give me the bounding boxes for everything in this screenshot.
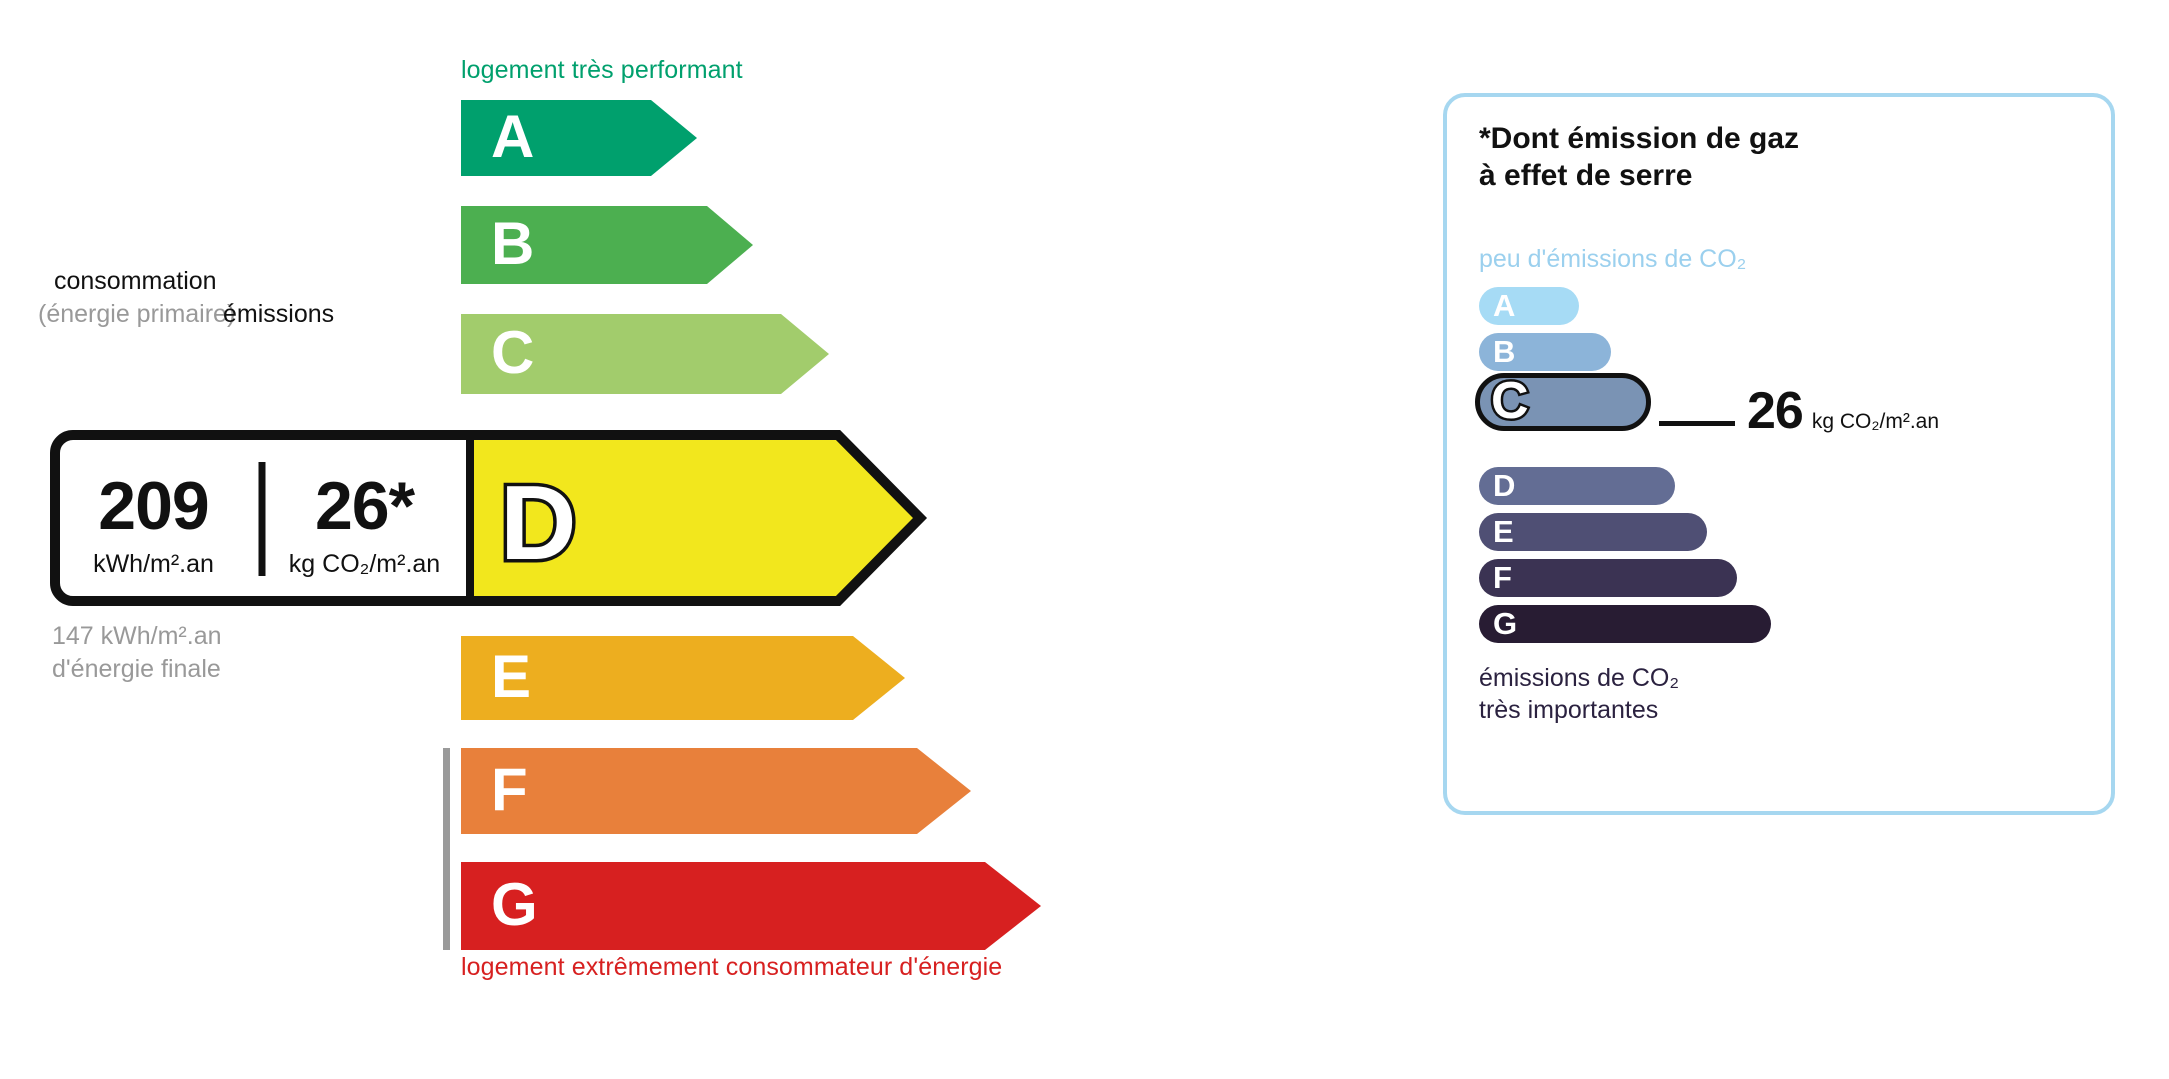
co2-caption-bottom: émissions de CO₂ très importantes (1479, 663, 1679, 726)
final-energy-footnote-line2: d'énergie finale (52, 655, 221, 684)
consumption-unit: kWh/m².an (48, 550, 259, 579)
energy-class-bar-e[interactable]: E (461, 636, 905, 720)
energy-class-bar-b[interactable]: B (461, 206, 753, 284)
co2-class-letter-d: D (1493, 470, 1515, 501)
header-consumption: consommation (54, 267, 217, 296)
co2-class-bar-e[interactable]: E (1479, 513, 1707, 551)
energy-class-bar-f[interactable]: F (461, 748, 971, 834)
current-values-box: 209 kWh/m².an 26* kg CO₂/m².an (48, 428, 470, 608)
co2-class-letter-g: G (1493, 608, 1517, 639)
emissions-unit: kg CO₂/m².an (259, 550, 470, 579)
consumption-value: 209 (48, 472, 259, 540)
co2-callout-value: 26 (1747, 385, 1803, 437)
co2-class-letter-f: F (1493, 562, 1512, 593)
header-emissions: émissions (223, 300, 334, 329)
arrow-shape-icon (461, 862, 1041, 950)
energy-class-letter-e: E (491, 647, 531, 707)
co2-class-bar-d[interactable]: D (1479, 467, 1675, 505)
co2-class-letter-b: B (1493, 336, 1515, 367)
final-energy-footnote-line1: 147 kWh/m².an (52, 622, 222, 651)
co2-current-class-letter: C (1491, 375, 1529, 427)
energy-class-bar-a[interactable]: A (461, 100, 697, 176)
co2-class-letter-a: A (1493, 290, 1515, 321)
co2-caption-top: peu d'émissions de CO₂ (1479, 245, 1746, 274)
emissions-value: 26* (259, 472, 470, 540)
energy-class-bar-c[interactable]: C (461, 314, 829, 394)
co2-class-letter-e: E (1493, 516, 1514, 547)
co2-panel-title: *Dont émission de gaz à effet de serre (1479, 121, 1799, 194)
co2-class-bar-b[interactable]: B (1479, 333, 1611, 371)
co2-class-bar-g[interactable]: G (1479, 605, 1771, 643)
scale-caption-top: logement très performant (461, 56, 743, 85)
arrow-shape-icon (461, 748, 971, 834)
co2-callout-unit: kg CO₂/m².an (1812, 410, 1939, 434)
consumption-value-cell: 209 kWh/m².an (48, 458, 259, 579)
co2-current-class-bar[interactable]: C (1475, 373, 1651, 431)
energy-class-letter-g: G (491, 875, 538, 935)
energy-class-letter-a: A (491, 107, 534, 167)
energy-class-letter-c: C (491, 323, 534, 383)
energy-performance-scale: logement très performant A B C consommat… (0, 0, 1400, 1079)
co2-emissions-panel: *Dont émission de gaz à effet de serre p… (1443, 93, 2115, 815)
energy-class-letter-f: F (491, 760, 528, 820)
passoire-energetique-marker (443, 748, 450, 950)
co2-callout-leader-line (1659, 421, 1735, 426)
co2-class-bar-a[interactable]: A (1479, 287, 1579, 325)
current-energy-class-row[interactable]: 209 kWh/m².an 26* kg CO₂/m².an D (48, 428, 948, 608)
current-energy-class-letter: D (500, 470, 577, 576)
header-consumption-sub: (énergie primaire) (38, 300, 235, 329)
scale-caption-bottom: logement extrêmement consommateur d'éner… (461, 953, 1002, 982)
co2-callout: 26 kg CO₂/m².an (1747, 385, 1939, 437)
energy-class-letter-b: B (491, 214, 534, 274)
energy-class-bar-g[interactable]: G (461, 862, 1041, 950)
co2-class-bar-f[interactable]: F (1479, 559, 1737, 597)
emissions-value-cell: 26* kg CO₂/m².an (259, 458, 470, 579)
